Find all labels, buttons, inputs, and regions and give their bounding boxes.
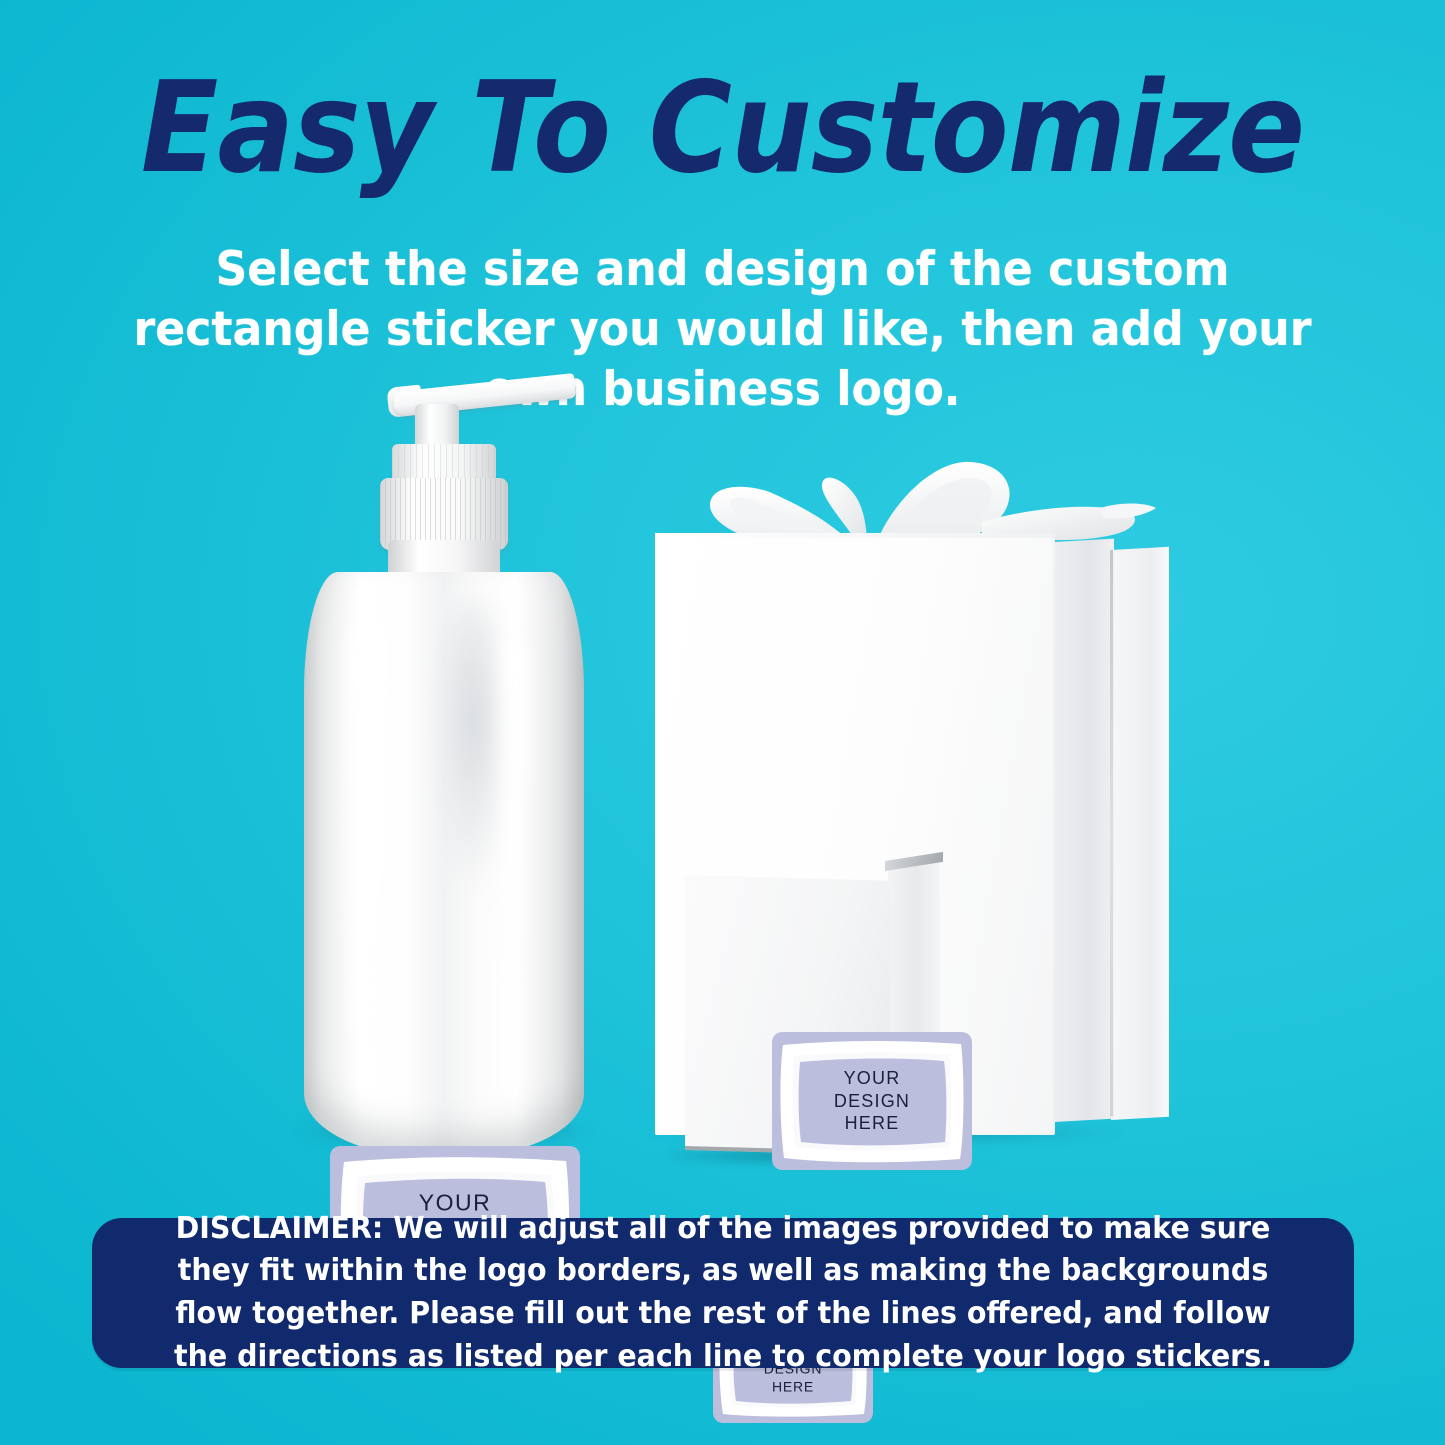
gift-box-right-side <box>1054 539 1114 1122</box>
promo-banner: Easy To Customize Select the size and de… <box>0 0 1445 1445</box>
bottle-highlight-right <box>502 640 528 970</box>
gift-box-seam <box>1110 550 1113 1116</box>
page-title: Easy To Customize <box>72 62 1373 194</box>
disclaimer-label: DISCLAIMER: <box>176 1211 384 1246</box>
gift-box-back-side <box>1111 547 1169 1120</box>
disclaimer-text: DISCLAIMER: We will adjust all of the im… <box>156 1208 1290 1378</box>
bottle-highlight-left <box>348 620 388 1050</box>
gift-box-lid-edge <box>655 533 1055 538</box>
sticker-line-1: YOUR <box>772 1067 972 1090</box>
disclaimer-panel: DISCLAIMER: We will adjust all of the im… <box>92 1218 1354 1368</box>
sticker-line-2: DESIGN <box>772 1090 972 1113</box>
sticker-label-gift-box[interactable]: YOUR DESIGN HERE <box>772 1032 972 1170</box>
product-mockup-scene: YOUR DESIGN HERE YOUR DESIGN HERE <box>0 360 1445 1190</box>
bottle-body-shading <box>438 600 510 900</box>
sticker-text: YOUR DESIGN HERE <box>772 1067 972 1135</box>
bottle-body <box>304 572 584 1157</box>
sticker-line-3: HERE <box>713 1378 873 1396</box>
sticker-line-3: HERE <box>772 1112 972 1135</box>
pump-bottle-mockup <box>288 370 608 1170</box>
